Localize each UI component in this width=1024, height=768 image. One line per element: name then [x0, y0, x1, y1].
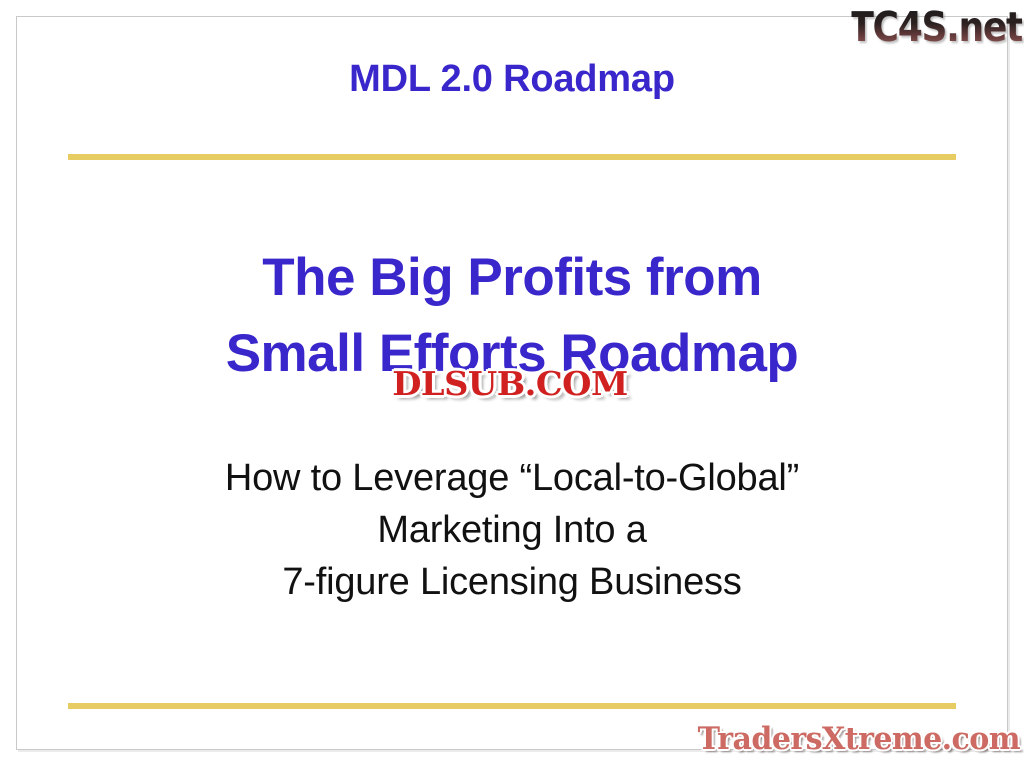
subtitle-line-2: Marketing Into a — [0, 504, 1024, 556]
divider-bottom — [68, 703, 956, 709]
headline-line-2: Small Efforts Roadmap — [0, 316, 1024, 392]
slide-title: MDL 2.0 Roadmap — [0, 60, 1024, 98]
subtitle-body: How to Leverage “Local-to-Global” Market… — [0, 452, 1024, 608]
subtitle-line-3: 7-figure Licensing Business — [0, 556, 1024, 608]
subtitle-line-1: How to Leverage “Local-to-Global” — [0, 452, 1024, 504]
headline-line-1: The Big Profits from — [0, 240, 1024, 316]
headline: The Big Profits from Small Efforts Roadm… — [0, 240, 1024, 392]
divider-top — [68, 154, 956, 160]
